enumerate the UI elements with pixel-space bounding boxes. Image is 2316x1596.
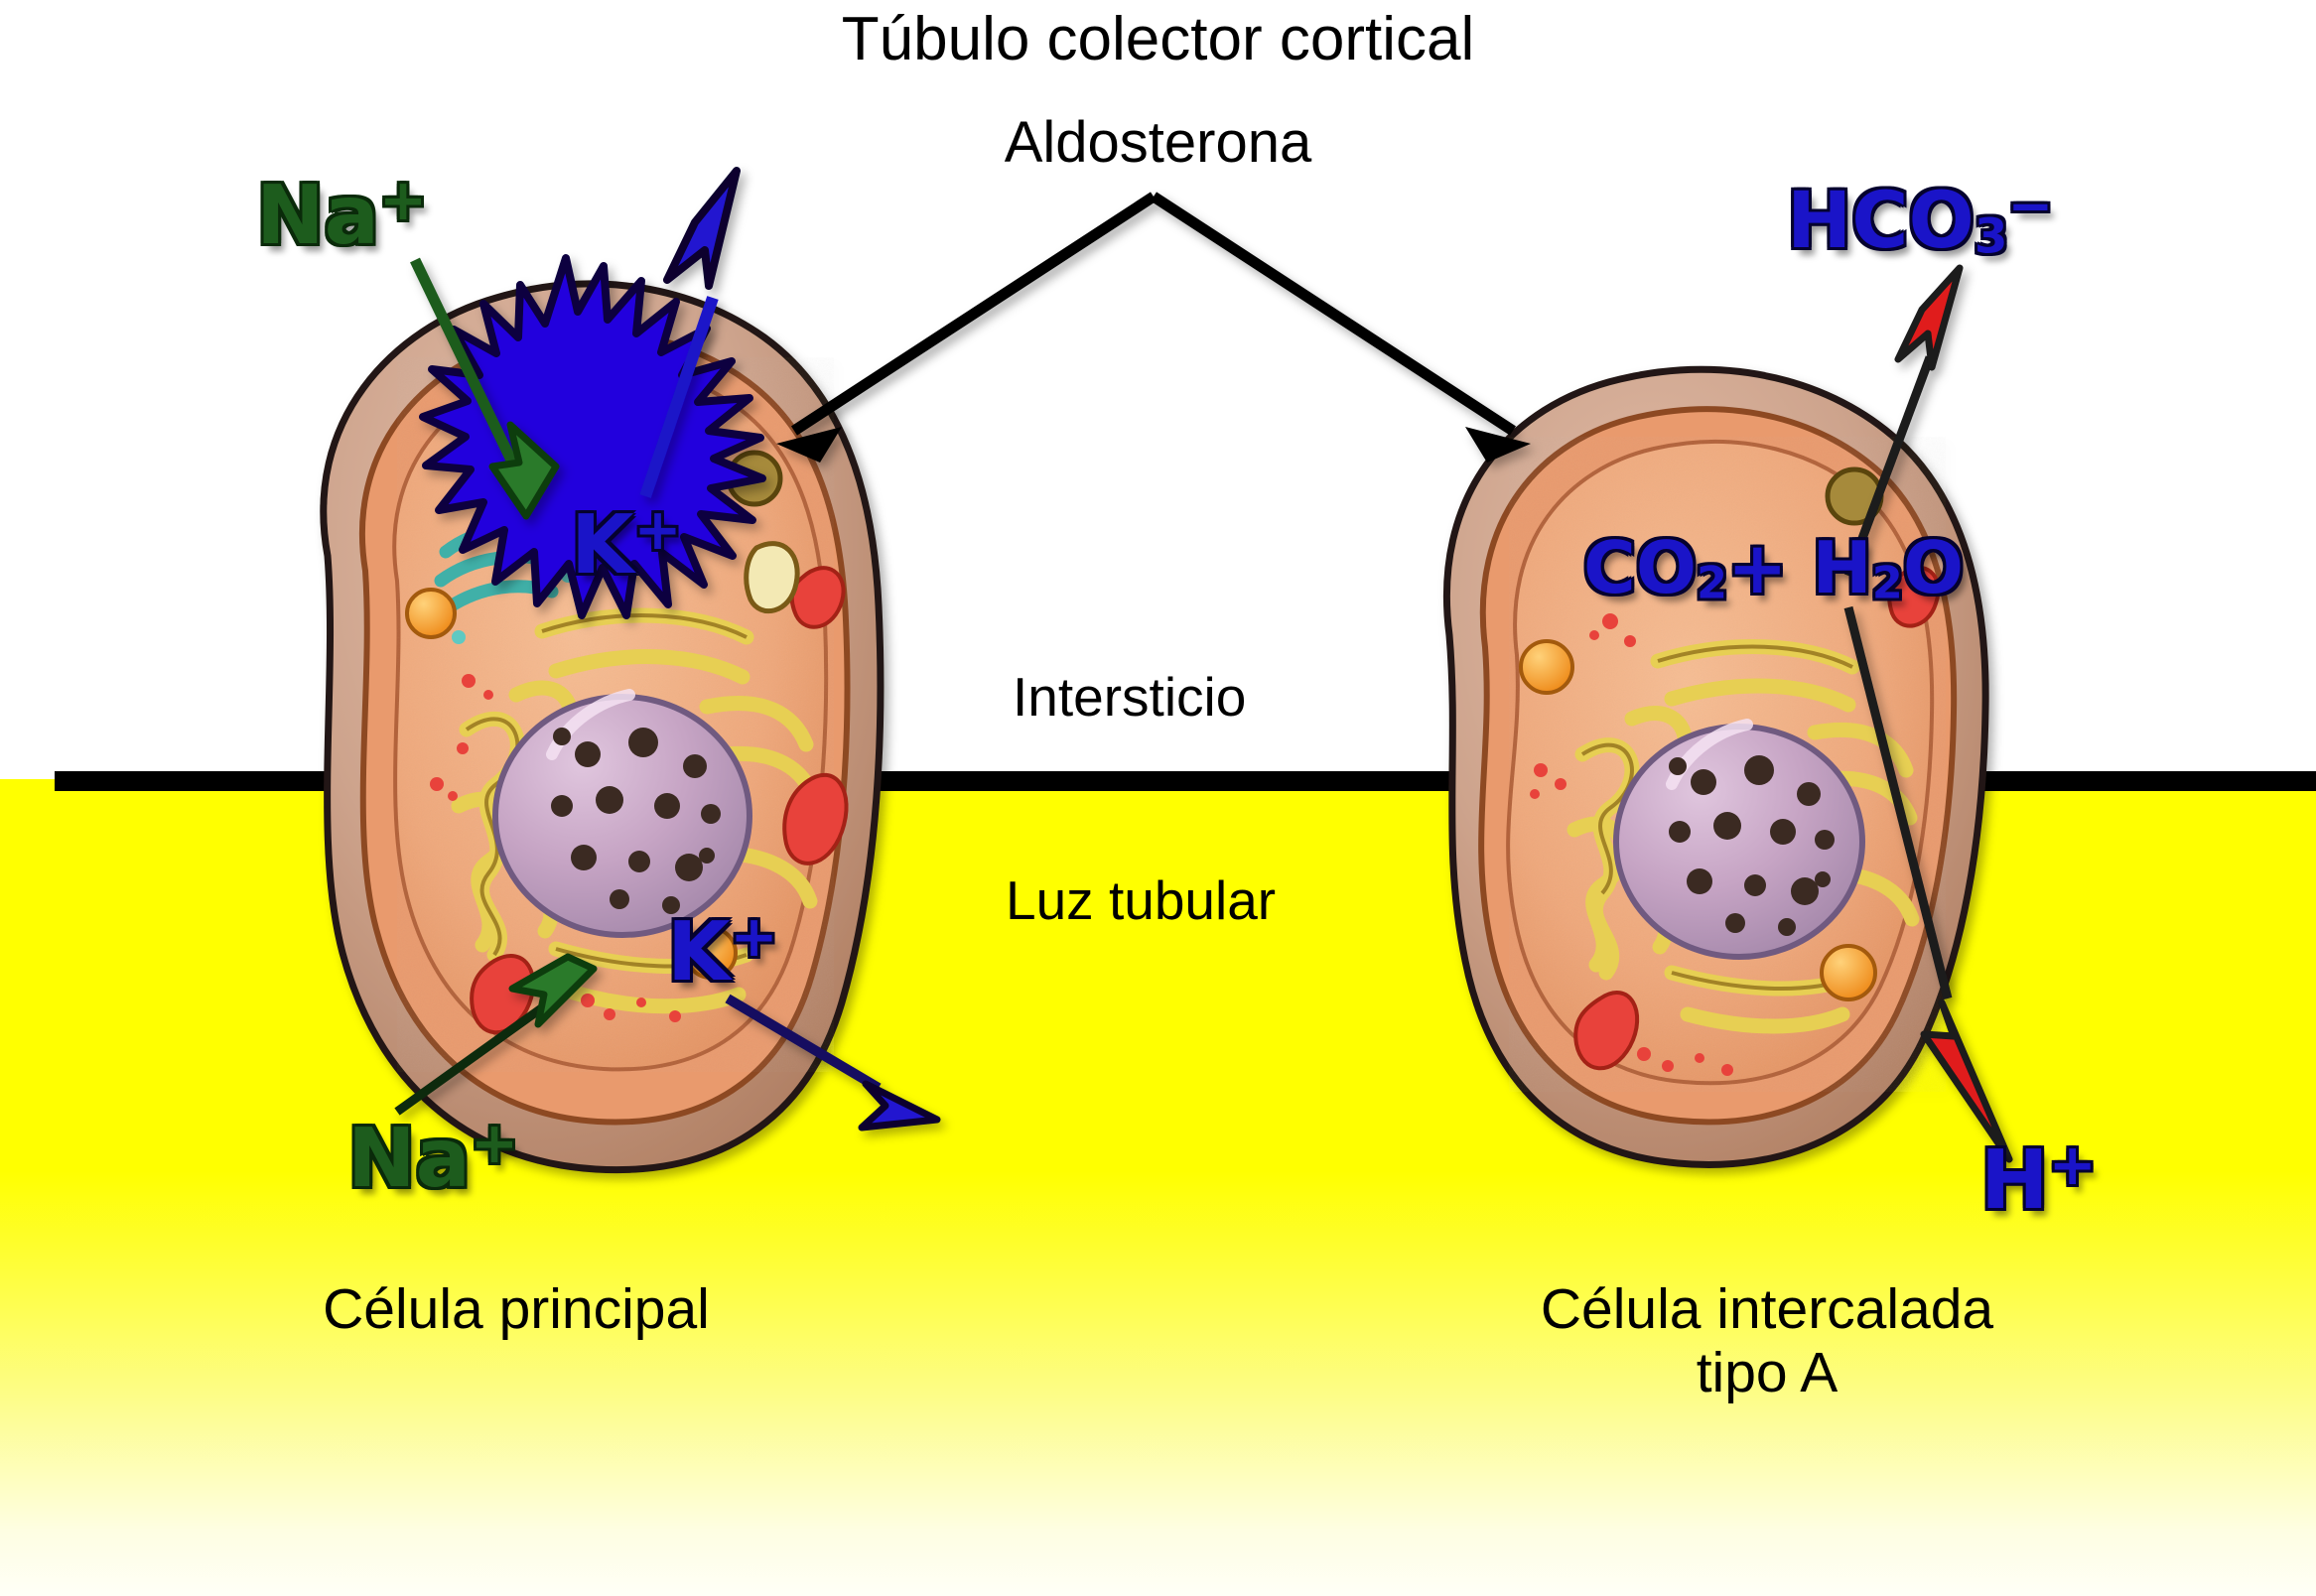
- tubular-membrane-line: [55, 771, 2316, 791]
- ion-na-luminal-charge: +: [471, 1110, 518, 1176]
- diagram-canvas: Túbulo colector cortical Aldosterona Int…: [0, 0, 2316, 1596]
- page-title: Túbulo colector cortical: [0, 4, 2316, 74]
- ion-label-k-luminal: K+: [667, 903, 778, 999]
- principal-cell-caption-line1: Célula principal: [139, 1278, 893, 1342]
- ion-h-text: H: [1980, 1133, 2049, 1228]
- ion-na-luminal-text: Na: [347, 1112, 471, 1206]
- h2o-sub: 2: [1872, 557, 1903, 608]
- co2-h2o-join: +: [1727, 526, 1812, 609]
- co2-text: CO: [1583, 526, 1697, 609]
- ion-k-luminal-text: K: [667, 905, 731, 999]
- ion-hco3-text: HCO: [1787, 177, 1975, 266]
- ion-label-na-luminal: Na+: [347, 1110, 518, 1206]
- lumen-label: Luz tubular: [1006, 868, 1276, 932]
- ion-h-charge: +: [2049, 1131, 2097, 1198]
- intercalated-cell-caption-line1: Célula intercalada: [1390, 1278, 2144, 1342]
- ion-label-hco3: HCO3−: [1787, 174, 2053, 266]
- interstitium-label: Intersticio: [1013, 665, 1246, 729]
- co2-sub: 2: [1697, 557, 1727, 608]
- aldosterone-label: Aldosterona: [0, 109, 2316, 176]
- intercalated-cell-caption: Célula intercalada tipo A: [1390, 1278, 2144, 1405]
- ion-label-co2-h2o: CO2+ H2O: [1583, 526, 1964, 609]
- ion-na-charge: +: [379, 167, 427, 233]
- principal-cell-caption: Célula principal: [139, 1278, 893, 1342]
- ion-k-luminal-charge: +: [731, 903, 778, 970]
- intercalated-cell-caption-line2: tipo A: [1390, 1342, 2144, 1405]
- h2o-text: H: [1813, 526, 1872, 609]
- ion-label-h-proton: H+: [1980, 1131, 2097, 1228]
- ion-k-charge: +: [634, 496, 682, 563]
- ion-label-k-intracellular: K+: [571, 496, 682, 593]
- ion-label-na-basolateral: Na+: [256, 167, 427, 263]
- ion-na-text: Na: [256, 169, 379, 263]
- h2o-tail: O: [1903, 526, 1964, 609]
- ion-hco3-charge: −: [2008, 174, 2054, 237]
- ion-k-text: K: [571, 498, 634, 593]
- ion-hco3-sub: 3: [1975, 209, 2008, 265]
